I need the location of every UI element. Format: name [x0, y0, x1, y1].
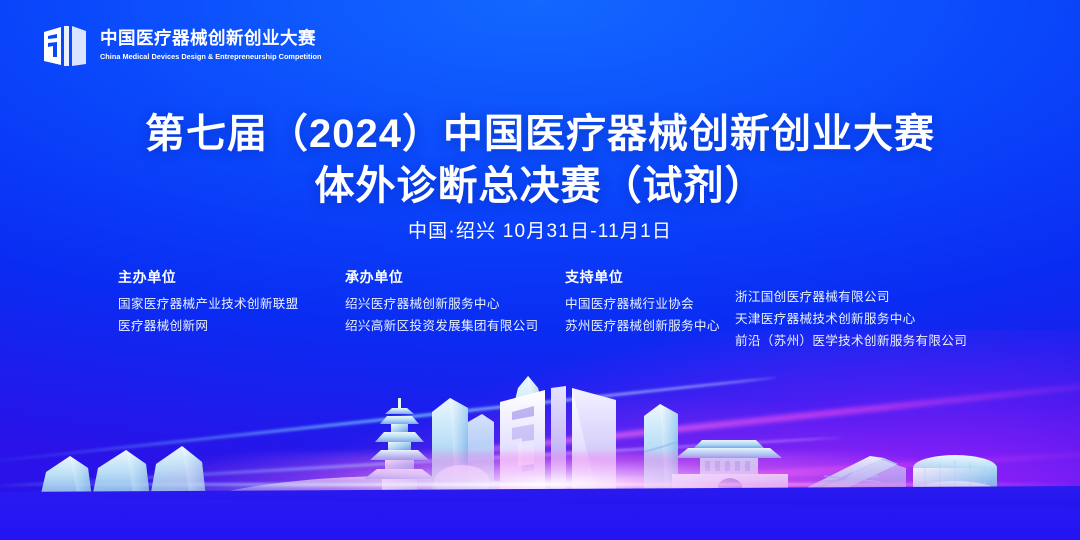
- organizer-heading: 支持单位: [565, 268, 720, 286]
- light-ray-left-2: [0, 436, 842, 491]
- foreground-ground-lower: [0, 498, 1080, 540]
- light-ray-right-1: [432, 375, 1080, 458]
- organizer-item: 中国医疗器械行业协会: [565, 293, 720, 315]
- page-title: 第七届（2024）中国医疗器械创新创业大赛 体外诊断总决赛（试剂）: [0, 108, 1080, 212]
- page-title-line2: 体外诊断总决赛（试剂）: [0, 160, 1080, 212]
- light-ray-left-1: [0, 376, 778, 468]
- landmark-logo-monument: [490, 386, 616, 498]
- logo-english-name: China Medical Devices Design & Entrepren…: [100, 52, 322, 61]
- organizer-item: 绍兴医疗器械创新服务中心: [345, 293, 538, 315]
- organizer-item: 天津医疗器械技术创新服务中心: [735, 308, 967, 330]
- light-ray-right-3: [389, 498, 1080, 523]
- organizer-item: 苏州医疗器械创新服务中心: [565, 315, 720, 337]
- organizer-item: 前沿（苏州）医学技术创新服务有限公司: [735, 330, 967, 352]
- city-skyline-illustration: [0, 372, 1080, 500]
- poster-canvas: 中国医疗器械创新创业大赛 China Medical Devices Desig…: [0, 0, 1080, 540]
- landmark-riverbank: [196, 476, 600, 498]
- organizer-column-supporter: 支持单位 中国医疗器械行业协会 苏州医疗器械创新服务中心: [565, 268, 720, 337]
- organizer-item: 绍兴高新区投资发展集团有限公司: [345, 315, 538, 337]
- organizer-column-supporter-overflow: 浙江国创医疗器械有限公司 天津医疗器械技术创新服务中心 前沿（苏州）医学技术创新…: [735, 286, 967, 352]
- organizer-item: 国家医疗器械产业技术创新联盟: [118, 293, 299, 315]
- event-location-date: 中国·绍兴 10月31日-11月1日: [0, 216, 1080, 243]
- organizer-item: 医疗器械创新网: [118, 315, 299, 337]
- logo-chinese-name: 中国医疗器械创新创业大赛: [100, 29, 324, 48]
- organizer-item: 浙江国创医疗器械有限公司: [735, 286, 967, 308]
- landmark-chinese-gate-tower: [672, 440, 788, 498]
- light-ray-left-3: [0, 472, 864, 497]
- landmark-round-stadium: [913, 455, 997, 500]
- organizer-column-undertaker: 承办单位 绍兴医疗器械创新服务中心 绍兴高新区投资发展集团有限公司: [345, 268, 538, 337]
- open-door-book-logo-icon: [38, 20, 90, 70]
- light-ray-left-4: [0, 506, 886, 515]
- landmark-tower-skyscraper: [644, 404, 678, 498]
- landmark-opera-house-shells: [40, 446, 206, 498]
- organizer-columns: 主办单位 国家医疗器械产业技术创新联盟 医疗器械创新网 承办单位 绍兴医疗器械创…: [0, 268, 1080, 364]
- horizon-light-line: [0, 483, 1080, 486]
- foreground-ground: [0, 486, 1080, 540]
- landmark-twin-skyscrapers: [432, 376, 544, 499]
- organizer-column-host: 主办单位 国家医疗器械产业技术创新联盟 医疗器械创新网: [118, 268, 299, 337]
- landmark-stepped-pyramid-building: [786, 456, 906, 498]
- competition-logo: 中国医疗器械创新创业大赛 China Medical Devices Desig…: [38, 20, 324, 70]
- light-ray-right-2: [410, 447, 1080, 497]
- organizer-heading: 主办单位: [118, 268, 299, 286]
- horizon-glow: [0, 452, 1080, 506]
- landmark-pagoda: [364, 398, 435, 498]
- page-title-line1: 第七届（2024）中国医疗器械创新创业大赛: [145, 112, 935, 156]
- organizer-heading: 承办单位: [345, 268, 538, 286]
- logo-wordmark: 中国医疗器械创新创业大赛 China Medical Devices Desig…: [100, 29, 324, 61]
